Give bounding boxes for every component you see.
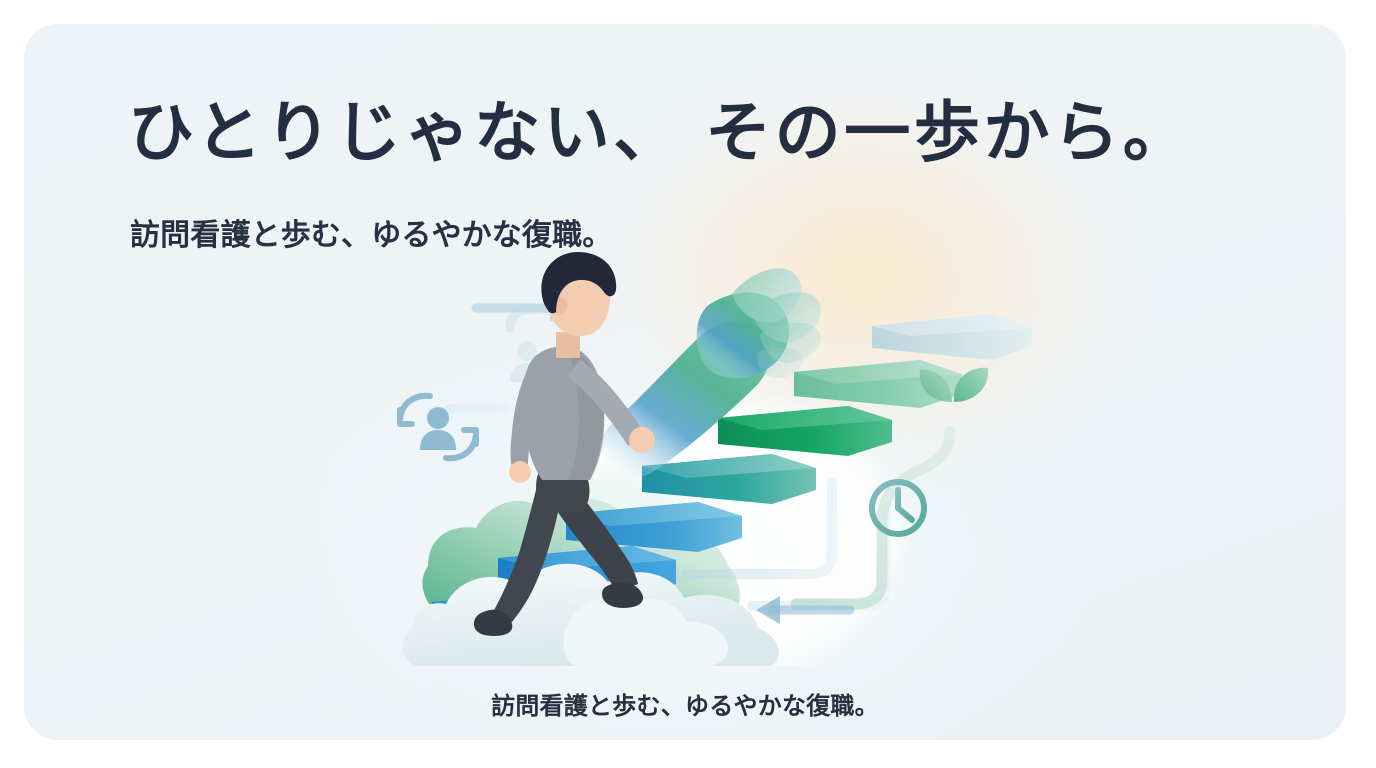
page-title: ひとりじゃない、 その一歩から。 bbox=[128, 96, 1248, 170]
step-7 bbox=[872, 314, 1032, 360]
hero-card: ひとりじゃない、 その一歩から。 訪問看護と歩む、ゆるやかな復職。 bbox=[24, 24, 1346, 740]
screenshot-stage: ひとりじゃない、 その一歩から。 訪問看護と歩む、ゆるやかな復職。 bbox=[0, 0, 1376, 768]
hero-illustration bbox=[380, 236, 1040, 666]
illustration-caption: 訪問看護と歩む、ゆるやかな復職。 bbox=[24, 686, 1346, 721]
